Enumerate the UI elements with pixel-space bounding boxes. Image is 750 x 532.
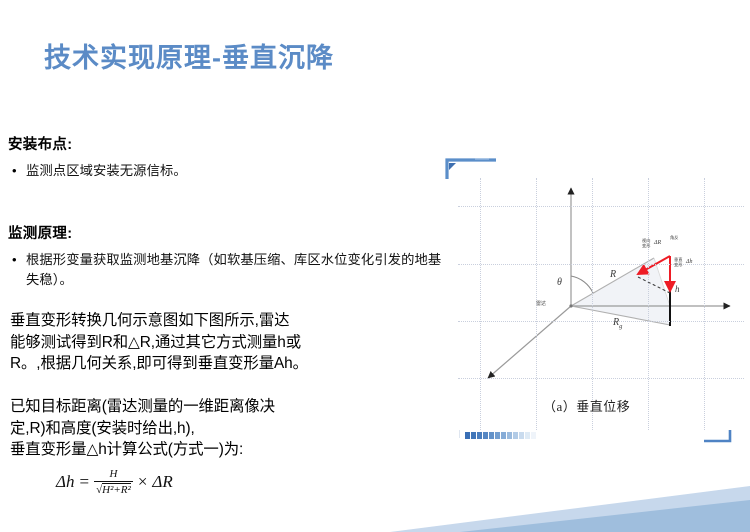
paragraph-known-line-1: 定,R)和高度(安装时给出,h),	[10, 418, 410, 440]
label-ground-range: Rg	[613, 318, 622, 331]
paragraph-known-line-0: 已知目标距离(雷达测量的一维距离像决	[10, 396, 410, 418]
paragraph-known-values: 已知目标距离(雷达测量的一维距离像决 定,R)和高度(安装时给出,h), 垂直变…	[10, 396, 410, 461]
formula-fraction: H √H²+R²	[94, 468, 133, 496]
slide-canvas: 技术实现原理-垂直沉降 安装布点: • 监测点区域安装无源信标。 监测原理: •…	[0, 0, 750, 532]
paragraph-known-line-2: 垂直变形量△h计算公式(方式一)为:	[10, 439, 410, 461]
label-theta: θ	[557, 278, 562, 288]
ribbon-decoration-dark	[330, 486, 750, 532]
list-item: • 根据形变量获取监测地基沉降（如软基压缩、库区水位变化引发的地基失稳）。	[8, 250, 448, 289]
section-heading-install: 安装布点:	[8, 133, 448, 154]
section-monitoring-principle: 监测原理: • 根据形变量获取监测地基沉降（如软基压缩、库区水位变化引发的地基失…	[8, 222, 448, 289]
formula-denominator: √H²+R²	[94, 481, 133, 496]
label-vertical-deformation-symbol: Δh	[686, 259, 693, 265]
paragraph-geometry-line-0: 垂直变形转换几何示意图如下图所示,雷达	[10, 310, 410, 332]
label-radar: 雷达	[536, 302, 546, 307]
label-vertical-deformation-line2: 变形	[674, 263, 682, 268]
bullet-text-principle-0: 根据形变量获取监测地基沉降（如软基压缩、库区水位变化引发的地基失稳）。	[26, 250, 448, 289]
figure-caption: （a）垂直位移	[543, 396, 630, 415]
bullet-dot-icon: •	[8, 161, 26, 180]
label-height-h: h	[675, 285, 680, 294]
label-los-deformation-symbol: ΔR	[654, 240, 661, 246]
formula-delta-h: Δh = H √H²+R² × ΔR	[56, 468, 173, 496]
page-title: 技术实现原理-垂直沉降	[44, 36, 334, 75]
formula-lhs: Δh	[56, 472, 74, 492]
label-corner-reflector: 角反	[670, 236, 678, 241]
angle-arc-theta	[571, 276, 593, 293]
formula-radicand: H²+R²	[102, 483, 131, 496]
formula-times: ×	[138, 472, 148, 492]
corner-bracket-top-left-icon	[445, 158, 497, 180]
formula-equals: =	[79, 472, 89, 492]
label-ground-range-sub: g	[619, 323, 622, 330]
paragraph-geometry-line-2: R。,根据几何关系,即可得到垂直变形量Ah。	[10, 353, 410, 375]
section-install-points: 安装布点: • 监测点区域安装无源信标。	[8, 133, 448, 181]
bullet-dot-icon: •	[8, 250, 26, 269]
geometry-diagram-svg	[458, 178, 744, 430]
paragraph-geometry-line-1: 能够测试得到R和△R,通过其它方式测量h或	[10, 332, 410, 354]
label-slant-range: R	[610, 270, 616, 280]
axis-oblique	[488, 306, 571, 378]
label-los-deformation-line2: 变形	[642, 244, 650, 249]
list-item: • 监测点区域安装无源信标。	[8, 161, 448, 181]
figure-vertical-displacement: θ R Rg h 雷达 视向 变形 ΔR 角反 垂直 变形 Δh	[458, 178, 744, 430]
section-heading-principle: 监测原理:	[8, 222, 448, 243]
formula-rhs: ΔR	[152, 472, 172, 492]
paragraph-geometry: 垂直变形转换几何示意图如下图所示,雷达 能够测试得到R和△R,通过其它方式测量h…	[10, 310, 410, 375]
gradient-bars-decoration	[465, 432, 536, 439]
formula-numerator: H	[105, 468, 121, 481]
sqrt-icon: √H²+R²	[96, 483, 131, 496]
bullet-text-install-0: 监测点区域安装无源信标。	[26, 161, 448, 181]
radar-origin-dot	[569, 304, 572, 307]
